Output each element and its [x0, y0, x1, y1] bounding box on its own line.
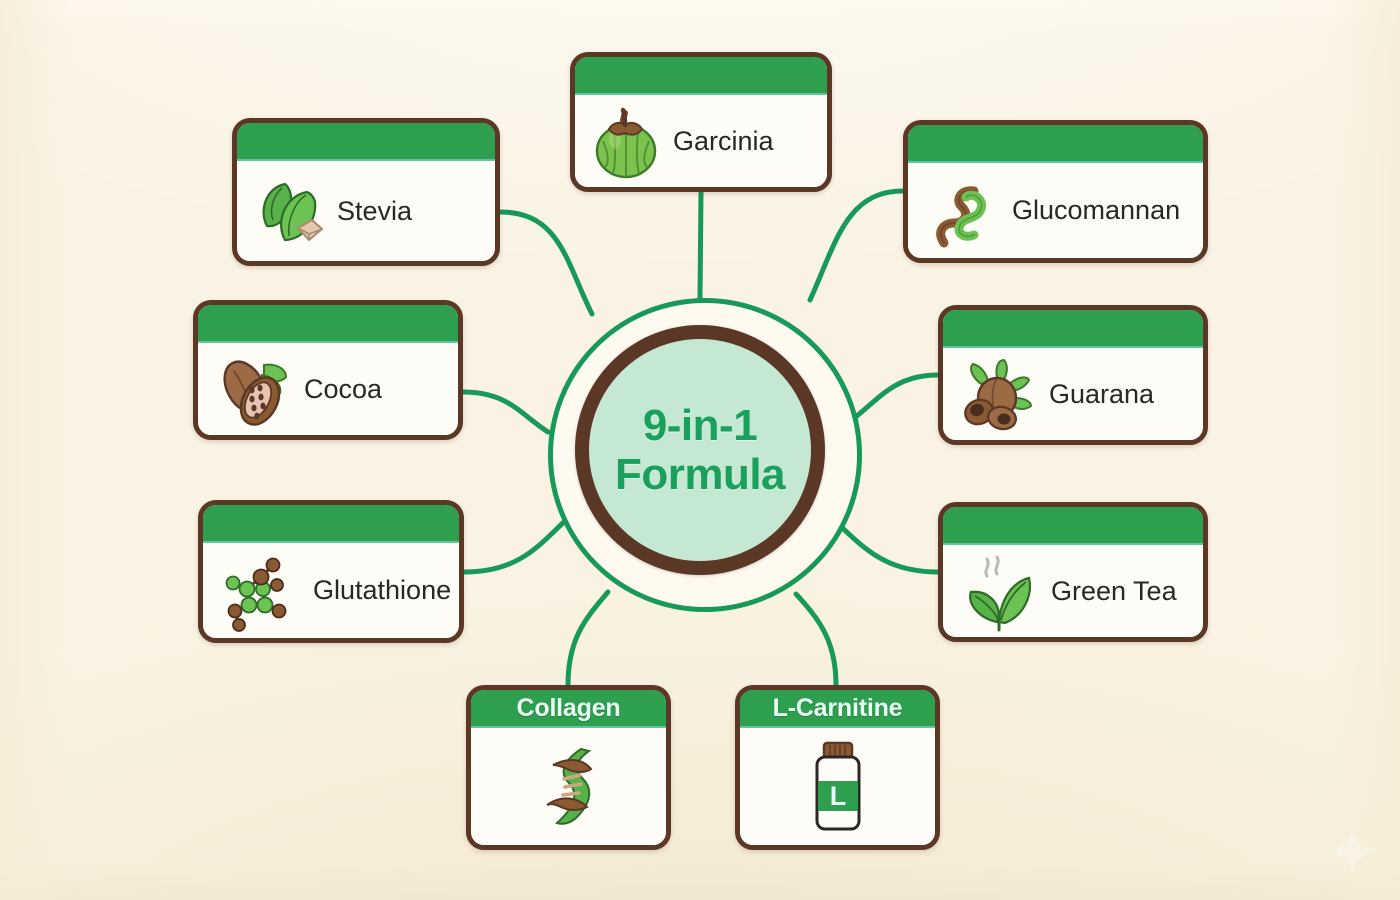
hub-circle: 9-in-1 Formula	[575, 325, 825, 575]
connector-glucomannan	[810, 191, 903, 300]
card-body: Garcinia	[575, 95, 827, 187]
card-label: Garcinia	[673, 126, 774, 157]
stevia-leaf-icon	[251, 170, 327, 252]
card-glucomannan[interactable]: Glucomannan	[903, 120, 1208, 263]
connector-guarana	[852, 375, 938, 420]
card-label: Guarana	[1049, 379, 1154, 410]
guarana-seed-icon	[957, 354, 1039, 434]
card-garcinia[interactable]: Garcinia	[570, 52, 832, 192]
card-stevia[interactable]: Stevia	[232, 118, 500, 266]
supplement-bottle-icon: L	[799, 737, 877, 837]
card-label: Glutathione	[313, 575, 451, 606]
connector-stevia	[500, 212, 592, 314]
connector-l-carnitine	[796, 594, 836, 685]
card-header	[943, 507, 1203, 545]
dna-helix-icon	[523, 739, 615, 835]
green-tea-leaf-icon	[957, 550, 1041, 632]
bottle-letter: L	[829, 781, 846, 811]
card-header	[943, 310, 1203, 348]
hub-title-line2: Formula	[615, 450, 785, 499]
connector-collagen	[568, 592, 608, 685]
card-body: Stevia	[237, 161, 495, 261]
sparkle-diamond-icon	[1330, 828, 1376, 874]
garcinia-fruit-icon	[589, 101, 663, 181]
card-header	[237, 123, 495, 161]
glucomannan-fiber-icon	[922, 169, 1002, 253]
card-cocoa[interactable]: Cocoa	[193, 300, 463, 440]
card-header: Collagen	[471, 690, 666, 728]
card-label: L-Carnitine	[773, 694, 903, 723]
card-body: L	[740, 728, 935, 845]
card-label: Cocoa	[304, 374, 382, 405]
card-label: Collagen	[517, 694, 621, 723]
connector-garcinia	[700, 192, 701, 298]
card-l-carnitine[interactable]: L-Carnitine L	[735, 685, 940, 850]
diagram-canvas: 9-in-1 Formula Stevia	[0, 0, 1400, 900]
connector-cocoa	[463, 392, 548, 432]
card-collagen[interactable]: Collagen	[466, 685, 671, 850]
card-green-tea[interactable]: Green Tea	[938, 502, 1208, 642]
card-header	[203, 505, 459, 543]
card-body	[471, 728, 666, 845]
card-header: L-Carnitine	[740, 690, 935, 728]
card-guarana[interactable]: Guarana	[938, 305, 1208, 445]
card-body: Glucomannan	[908, 163, 1203, 258]
card-body: Glutathione	[203, 543, 459, 638]
card-body: Green Tea	[943, 545, 1203, 637]
card-glutathione[interactable]: Glutathione	[198, 500, 464, 643]
hub-title-line1: 9-in-1	[615, 401, 785, 450]
glutathione-molecule-icon	[217, 549, 303, 633]
hub-title: 9-in-1 Formula	[615, 401, 785, 500]
connector-glutathione	[464, 520, 566, 572]
card-label: Glucomannan	[1012, 195, 1180, 226]
card-header	[198, 305, 458, 343]
card-label: Green Tea	[1051, 576, 1177, 607]
card-body: Guarana	[943, 348, 1203, 440]
card-header	[908, 125, 1203, 163]
card-body: Cocoa	[198, 343, 458, 435]
card-header	[575, 57, 827, 95]
card-label: Stevia	[337, 196, 412, 227]
cocoa-pod-icon	[212, 349, 294, 429]
connector-green-tea	[836, 522, 938, 572]
